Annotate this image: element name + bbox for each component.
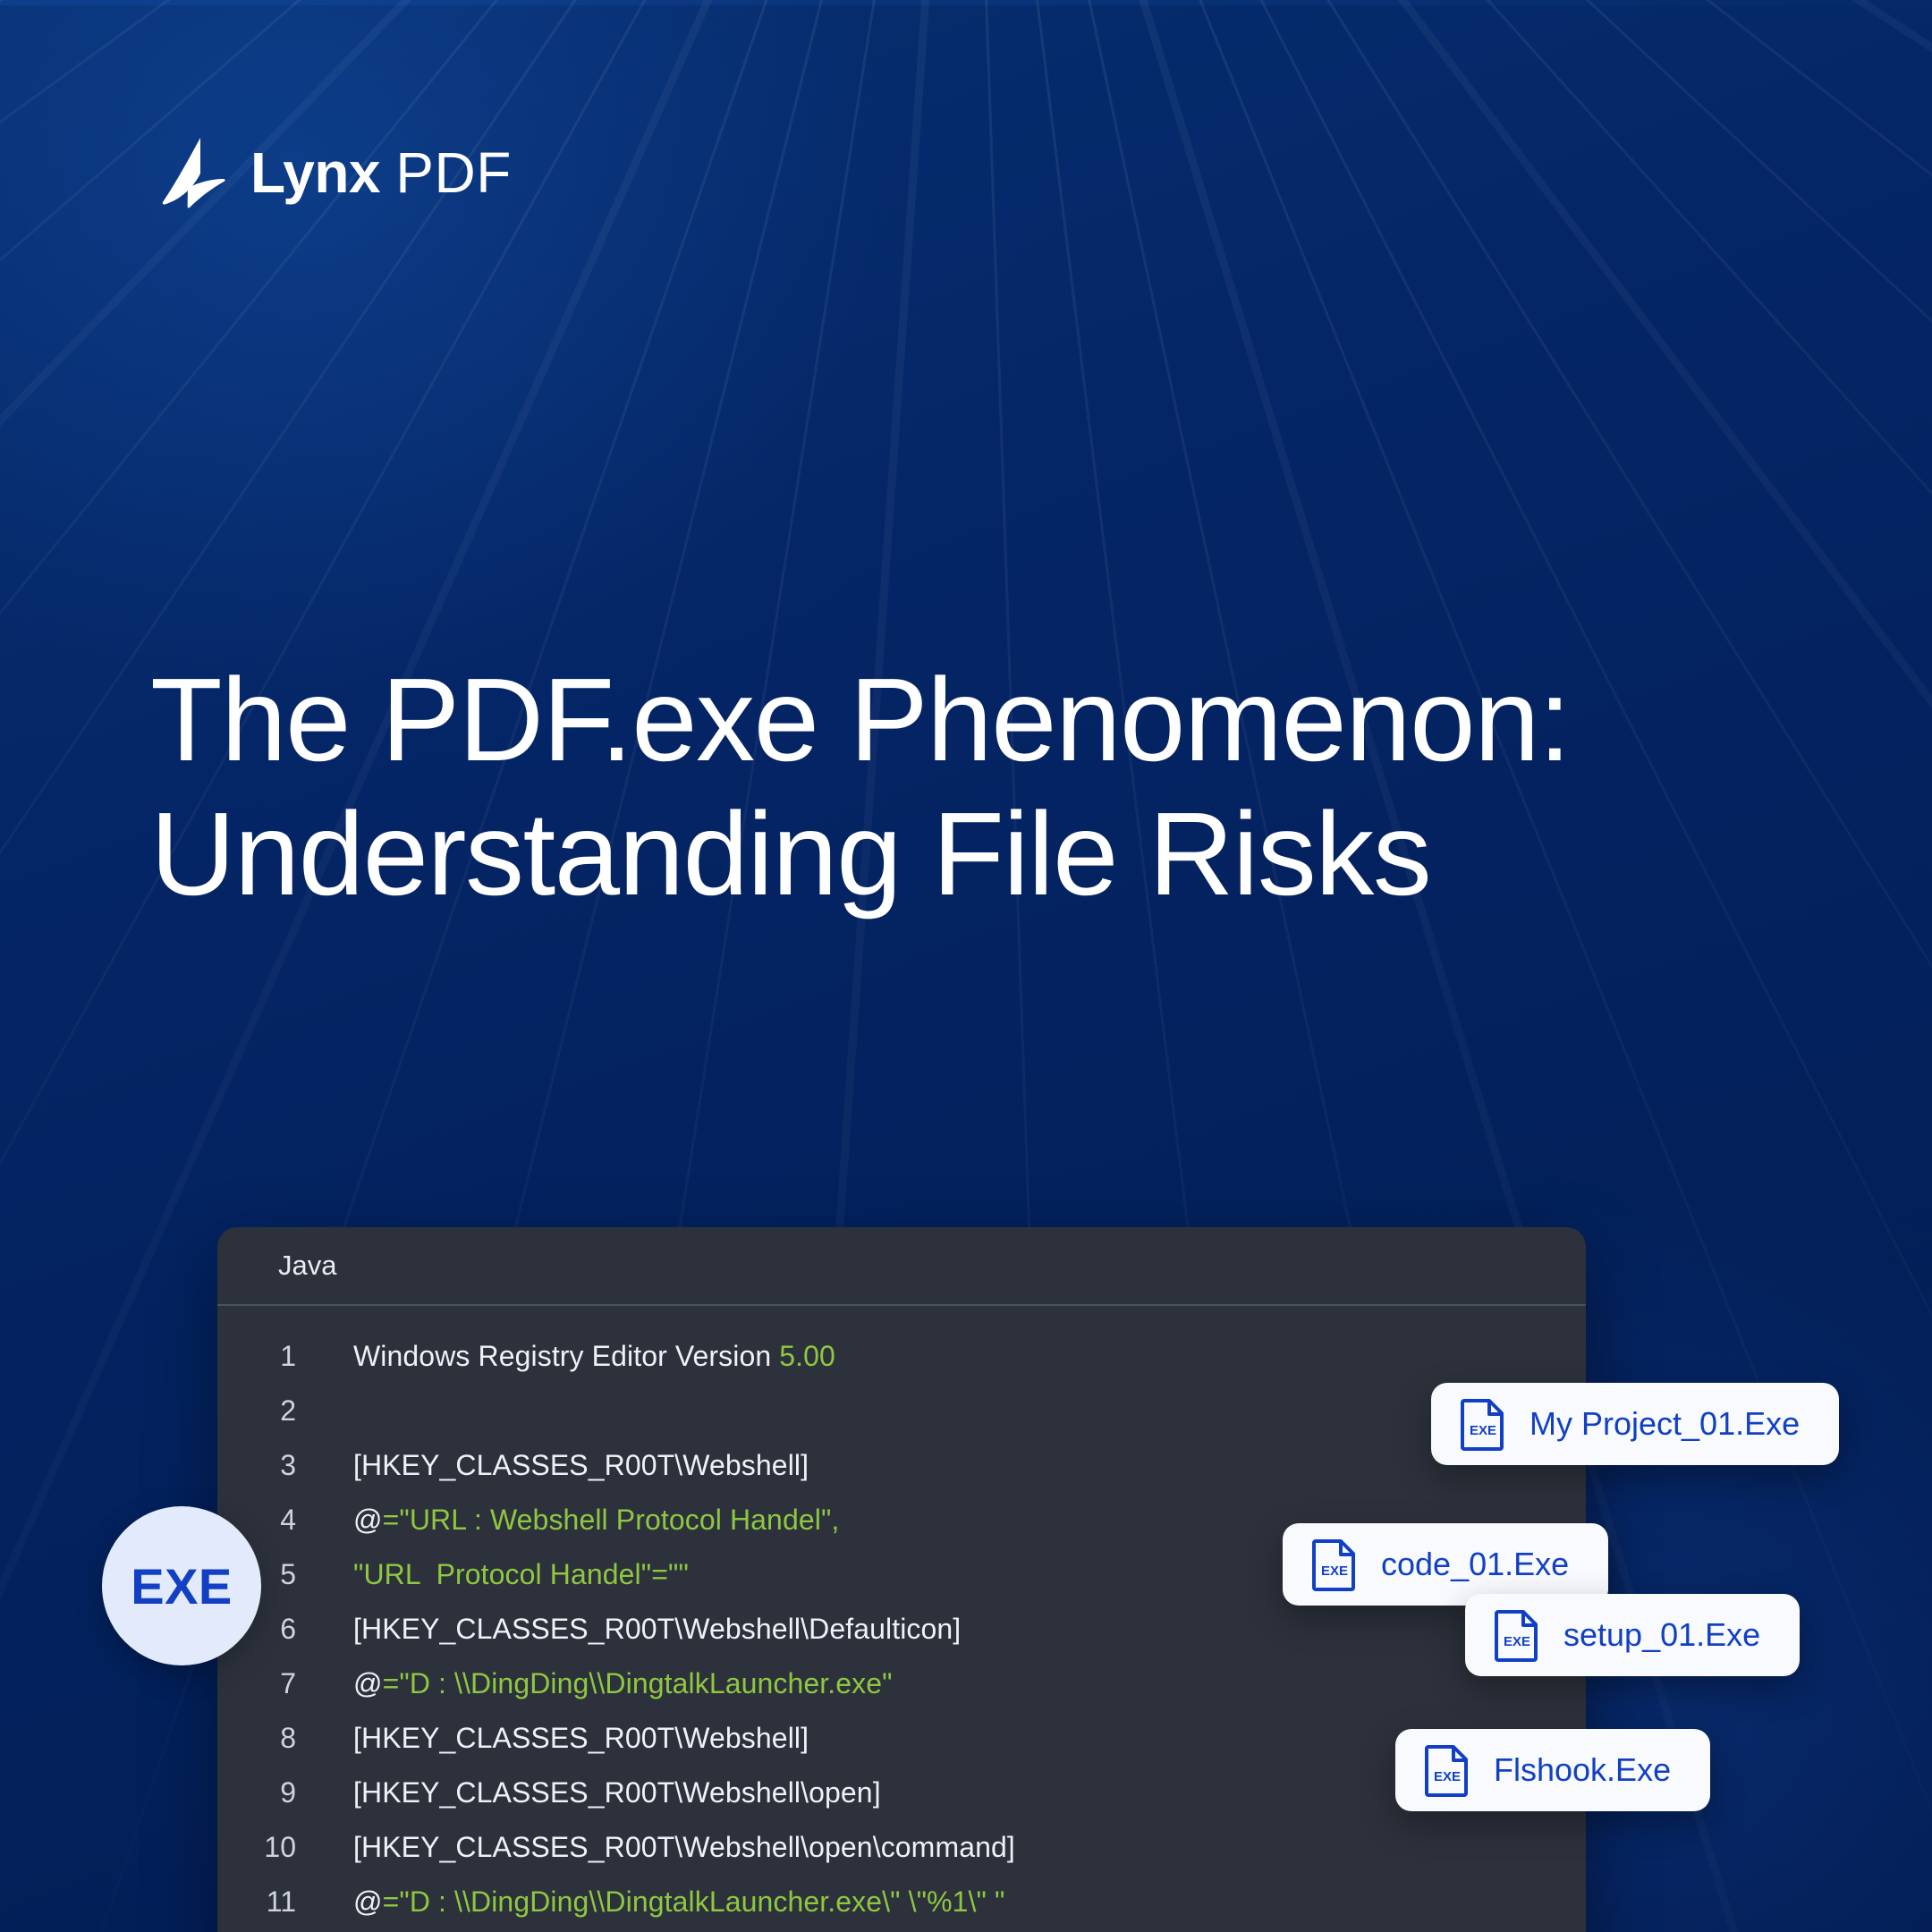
brand-lockup[interactable]: Lynx PDF (150, 134, 512, 211)
exe-file-icon: EXE (1311, 1538, 1358, 1591)
svg-text:EXE: EXE (1321, 1563, 1348, 1579)
code-line-text: [HKEY_CLASSES_R00T\Webshell\open\command… (296, 1820, 1015, 1875)
file-chip-label: Flshook.Exe (1494, 1751, 1671, 1789)
code-line: 9[HKEY_CLASSES_R00T\Webshell\open] (217, 1766, 1586, 1820)
exe-file-icon: EXE (1424, 1743, 1470, 1797)
top-accent-bar (0, 0, 1932, 5)
brand-name-light: PDF (395, 140, 512, 205)
code-line-number: 9 (217, 1766, 296, 1820)
file-chip-my-project[interactable]: EXE My Project_01.Exe (1431, 1383, 1839, 1465)
code-language-label: Java (217, 1227, 1586, 1306)
code-line: 1Windows Registry Editor Version 5.00 (217, 1329, 1586, 1384)
code-line: 8[HKEY_CLASSES_R00T\Webshell] (217, 1711, 1586, 1766)
svg-text:EXE: EXE (1434, 1769, 1461, 1784)
code-line-text: [HKEY_CLASSES_R00T\Webshell\Defaulticon] (296, 1602, 961, 1657)
file-chip-label: My Project_01.Exe (1529, 1405, 1800, 1443)
code-line-text: [HKEY_CLASSES_R00T\Webshell] (296, 1711, 809, 1766)
code-line-text: Windows Registry Editor Version 5.00 (296, 1329, 835, 1384)
brand-wordmark: Lynx PDF (250, 140, 512, 206)
page-title: The PDF.exe Phenomenon: Understanding Fi… (150, 653, 1724, 922)
brand-name-bold: Lynx (250, 140, 380, 205)
code-line-text: [HKEY_CLASSES_R00T\Webshell] (296, 1438, 809, 1493)
code-line-text: "URL Protocol Handel"="" (296, 1547, 689, 1602)
code-line: 6[HKEY_CLASSES_R00T\Webshell\Defaulticon… (217, 1602, 1586, 1657)
code-line: 7@="D : \\DingDing\\DingtalkLauncher.exe… (217, 1657, 1586, 1711)
code-line-number: 10 (217, 1820, 296, 1875)
exe-file-icon: EXE (1460, 1397, 1506, 1451)
code-line-text: [HKEY_CLASSES_R00T\Webshell\open] (296, 1766, 881, 1820)
code-line-number: 8 (217, 1711, 296, 1766)
code-lines[interactable]: 1Windows Registry Editor Version 5.0023[… (217, 1306, 1586, 1929)
page-title-line-2: Understanding File Risks (150, 787, 1724, 921)
code-line-number: 2 (217, 1384, 296, 1438)
file-chip-label: code_01.Exe (1381, 1546, 1569, 1583)
code-line-number: 1 (217, 1329, 296, 1384)
svg-text:EXE: EXE (1470, 1423, 1496, 1438)
code-line: 3[HKEY_CLASSES_R00T\Webshell] (217, 1438, 1586, 1493)
code-line: 11@="D : \\DingDing\\DingtalkLauncher.ex… (217, 1875, 1586, 1929)
exe-badge-label: EXE (131, 1557, 233, 1615)
page-title-line-1: The PDF.exe Phenomenon: (150, 654, 1570, 785)
code-line: 10[HKEY_CLASSES_R00T\Webshell\open\comma… (217, 1820, 1586, 1875)
code-line-text: @="D : \\DingDing\\DingtalkLauncher.exe" (296, 1657, 893, 1711)
file-chip-setup-01[interactable]: EXE setup_01.Exe (1465, 1594, 1800, 1676)
file-chip-flshook[interactable]: EXE Flshook.Exe (1395, 1729, 1710, 1811)
code-line: 2 (217, 1384, 1586, 1438)
code-line-text: @="D : \\DingDing\\DingtalkLauncher.exe\… (296, 1875, 1004, 1929)
code-line-number: 3 (217, 1438, 296, 1493)
exe-badge: EXE (102, 1506, 261, 1665)
file-chip-label: setup_01.Exe (1563, 1616, 1760, 1654)
exe-file-icon: EXE (1494, 1608, 1540, 1662)
code-line-text: @="URL : Webshell Protocol Handel", (296, 1493, 839, 1547)
svg-text:EXE: EXE (1504, 1634, 1530, 1649)
lynx-swoosh-icon (150, 134, 227, 211)
code-line-number: 7 (217, 1657, 296, 1711)
poster-canvas: Lynx PDF The PDF.exe Phenomenon: Underst… (0, 0, 1932, 1932)
code-line-number: 11 (217, 1875, 296, 1929)
